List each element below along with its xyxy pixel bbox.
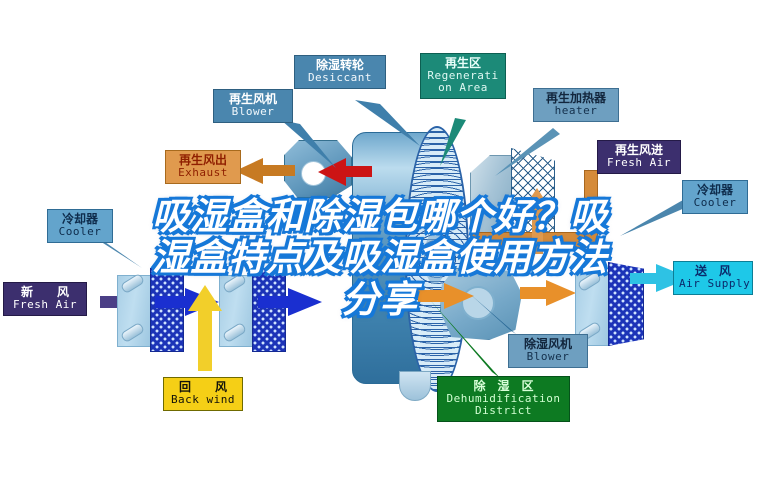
label-dehumidify-blower-cn: 除湿风机 bbox=[514, 338, 582, 351]
label-regeneration-fresh-air-cn: 再生风进 bbox=[603, 144, 675, 157]
label-dehumidify-blower-en: Blower bbox=[514, 351, 582, 363]
label-dehumidification-district[interactable]: 除 湿 区 Dehumidification District bbox=[437, 376, 570, 422]
label-cooler-right-en: Cooler bbox=[688, 197, 742, 209]
label-back-wind-en: Back wind bbox=[169, 394, 237, 406]
overlay-title-line-3: 分享 bbox=[80, 279, 680, 320]
overlay-title-line-1: 吸湿盒和除湿包哪个好？吸 bbox=[80, 196, 680, 237]
label-regeneration-blower[interactable]: 再生风机 Blower bbox=[213, 89, 293, 123]
overlay-title: 吸湿盒和除湿包哪个好？吸 湿盒特点及吸湿盒使用方法 分享 bbox=[80, 196, 680, 320]
label-dehumidify-blower[interactable]: 除湿风机 Blower bbox=[508, 334, 588, 368]
label-desiccant-wheel[interactable]: 除湿转轮 Desiccant bbox=[294, 55, 386, 89]
label-dehumidification-district-cn: 除 湿 区 bbox=[443, 380, 564, 393]
label-air-supply-cn: 送 风 bbox=[679, 265, 747, 278]
label-regeneration-heater-en: heater bbox=[539, 105, 613, 117]
label-dehumidification-district-en-2: District bbox=[443, 405, 564, 417]
label-air-supply-en: Air Supply bbox=[679, 278, 747, 290]
label-regeneration-fresh-air[interactable]: 再生风进 Fresh Air bbox=[597, 140, 681, 174]
label-cooler-right-cn: 冷却器 bbox=[688, 184, 742, 197]
label-cooler-right[interactable]: 冷却器 Cooler bbox=[682, 180, 748, 214]
label-regeneration-area[interactable]: 再生区 Regenerati on Area bbox=[420, 53, 506, 99]
label-regeneration-heater-cn: 再生加热器 bbox=[539, 92, 613, 105]
label-regeneration-blower-en: Blower bbox=[219, 106, 287, 118]
label-regeneration-area-cn: 再生区 bbox=[426, 57, 500, 70]
label-desiccant-wheel-en: Desiccant bbox=[300, 72, 380, 84]
label-desiccant-wheel-cn: 除湿转轮 bbox=[300, 59, 380, 72]
label-regeneration-blower-cn: 再生风机 bbox=[219, 93, 287, 106]
label-regeneration-exhaust-en: Exhaust bbox=[171, 167, 235, 179]
label-regeneration-area-en-2: on Area bbox=[426, 82, 500, 94]
label-fresh-air-inlet[interactable]: 新 风 Fresh Air bbox=[3, 282, 87, 316]
label-regeneration-fresh-air-en: Fresh Air bbox=[603, 157, 675, 169]
diagram-canvas: 除湿转轮 Desiccant 再生风机 Blower 再生风出 Exhaust … bbox=[0, 0, 757, 488]
label-fresh-air-inlet-en: Fresh Air bbox=[9, 299, 81, 311]
label-regeneration-exhaust-cn: 再生风出 bbox=[171, 154, 235, 167]
label-regeneration-exhaust[interactable]: 再生风出 Exhaust bbox=[165, 150, 241, 184]
label-air-supply[interactable]: 送 风 Air Supply bbox=[673, 261, 753, 295]
overlay-title-line-2: 湿盒特点及吸湿盒使用方法 bbox=[80, 237, 680, 278]
label-back-wind-cn: 回 风 bbox=[169, 381, 237, 394]
label-regeneration-heater[interactable]: 再生加热器 heater bbox=[533, 88, 619, 122]
label-fresh-air-inlet-cn: 新 风 bbox=[9, 286, 81, 299]
label-back-wind[interactable]: 回 风 Back wind bbox=[163, 377, 243, 411]
